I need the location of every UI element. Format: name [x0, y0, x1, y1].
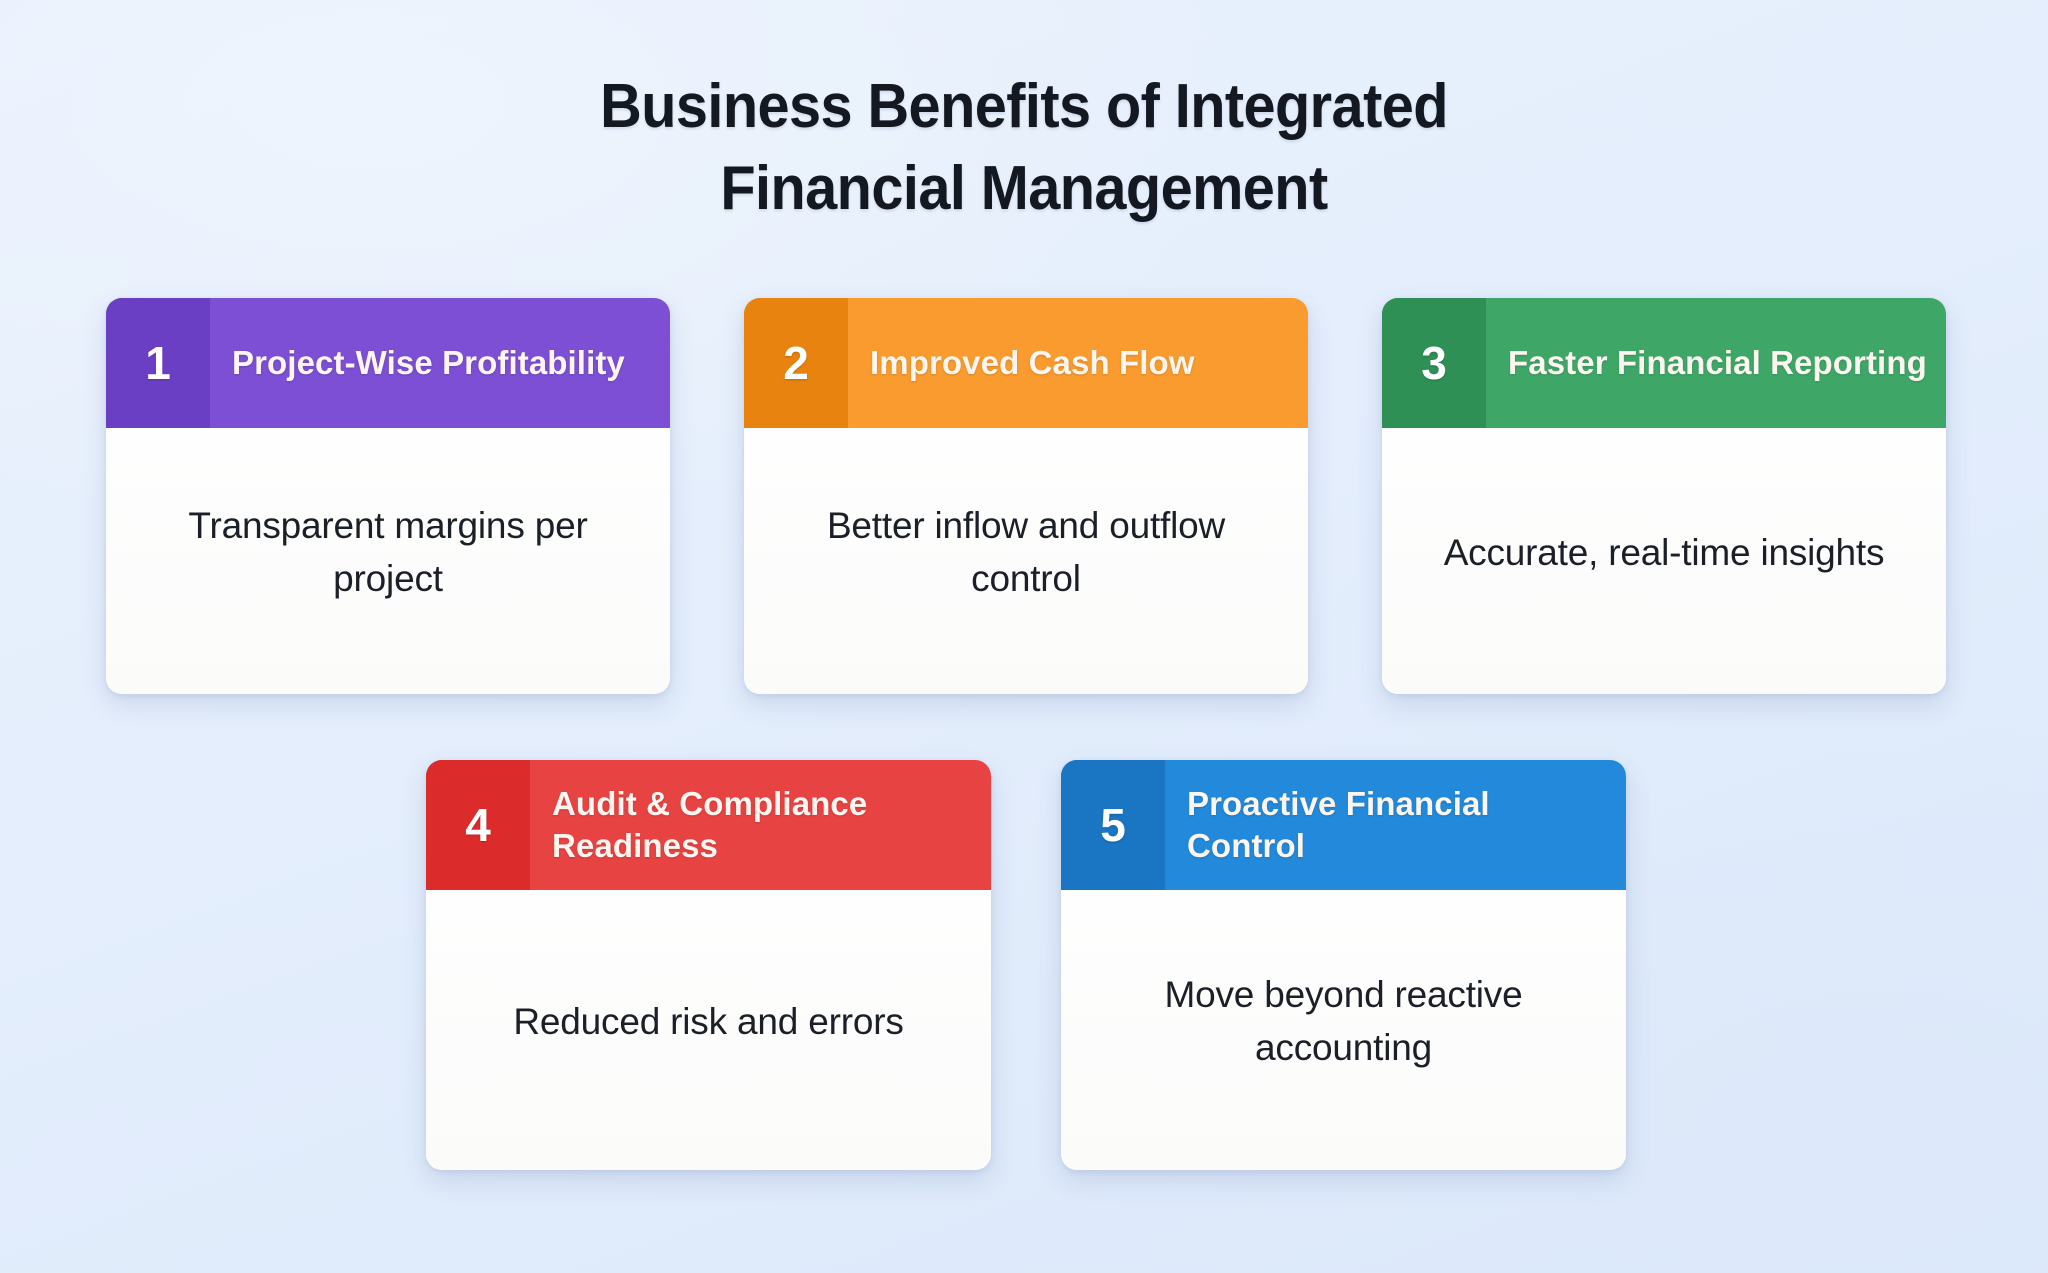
benefit-card-3-number-badge: 3	[1382, 298, 1486, 428]
benefit-card-5: 5 Proactive Financial Control Move beyon…	[1061, 760, 1626, 1170]
benefit-card-5-heading: Proactive Financial Control	[1187, 783, 1608, 867]
benefit-card-row-top: 1 Project-Wise Profitability Transparent…	[106, 298, 1946, 694]
benefit-card-4-body-text: Reduced risk and errors	[513, 995, 903, 1048]
benefit-card-5-body: Move beyond reactive accounting	[1061, 890, 1626, 1170]
benefit-card-4-header: 4 Audit & Compliance Readiness	[426, 760, 991, 890]
benefit-card-3-header: 3 Faster Financial Reporting	[1382, 298, 1946, 428]
benefit-card-2-header: 2 Improved Cash Flow	[744, 298, 1308, 428]
benefit-card-4: 4 Audit & Compliance Readiness Reduced r…	[426, 760, 991, 1170]
benefit-card-2-body-text: Better inflow and outflow control	[778, 499, 1274, 605]
benefit-card-1-heading-wrap: Project-Wise Profitability	[210, 298, 670, 428]
benefit-card-5-heading-wrap: Proactive Financial Control	[1165, 760, 1626, 890]
page-title-line-2: Financial Management	[72, 148, 1977, 230]
benefit-card-2-heading: Improved Cash Flow	[870, 342, 1195, 384]
benefit-card-4-body: Reduced risk and errors	[426, 890, 991, 1170]
benefit-card-4-heading: Audit & Compliance Readiness	[552, 783, 973, 867]
benefit-card-4-heading-wrap: Audit & Compliance Readiness	[530, 760, 991, 890]
benefit-card-3-body-text: Accurate, real-time insights	[1444, 526, 1885, 579]
benefit-card-1-body-text: Transparent margins per project	[140, 499, 636, 605]
benefit-card-4-number-badge: 4	[426, 760, 530, 890]
benefit-card-5-body-text: Move beyond reactive accounting	[1095, 968, 1592, 1074]
benefit-card-1-body: Transparent margins per project	[106, 428, 670, 694]
benefit-card-2: 2 Improved Cash Flow Better inflow and o…	[744, 298, 1308, 694]
benefit-card-2-heading-wrap: Improved Cash Flow	[848, 298, 1308, 428]
benefit-card-1: 1 Project-Wise Profitability Transparent…	[106, 298, 670, 694]
benefit-card-2-number-badge: 2	[744, 298, 848, 428]
benefit-card-1-number-badge: 1	[106, 298, 210, 428]
benefit-card-1-heading: Project-Wise Profitability	[232, 342, 625, 384]
benefit-card-2-body: Better inflow and outflow control	[744, 428, 1308, 694]
benefit-card-3: 3 Faster Financial Reporting Accurate, r…	[1382, 298, 1946, 694]
benefit-card-3-body: Accurate, real-time insights	[1382, 428, 1946, 694]
benefit-card-1-header: 1 Project-Wise Profitability	[106, 298, 670, 428]
infographic-canvas: Business Benefits of Integrated Financia…	[0, 0, 2048, 1273]
benefit-card-row-bottom: 4 Audit & Compliance Readiness Reduced r…	[426, 760, 1626, 1170]
benefit-card-3-heading: Faster Financial Reporting	[1508, 342, 1927, 384]
benefit-card-3-heading-wrap: Faster Financial Reporting	[1486, 298, 1946, 428]
page-title-line-1: Business Benefits of Integrated	[72, 66, 1977, 148]
benefit-card-5-header: 5 Proactive Financial Control	[1061, 760, 1626, 890]
benefit-card-5-number-badge: 5	[1061, 760, 1165, 890]
page-title: Business Benefits of Integrated Financia…	[0, 66, 2048, 230]
